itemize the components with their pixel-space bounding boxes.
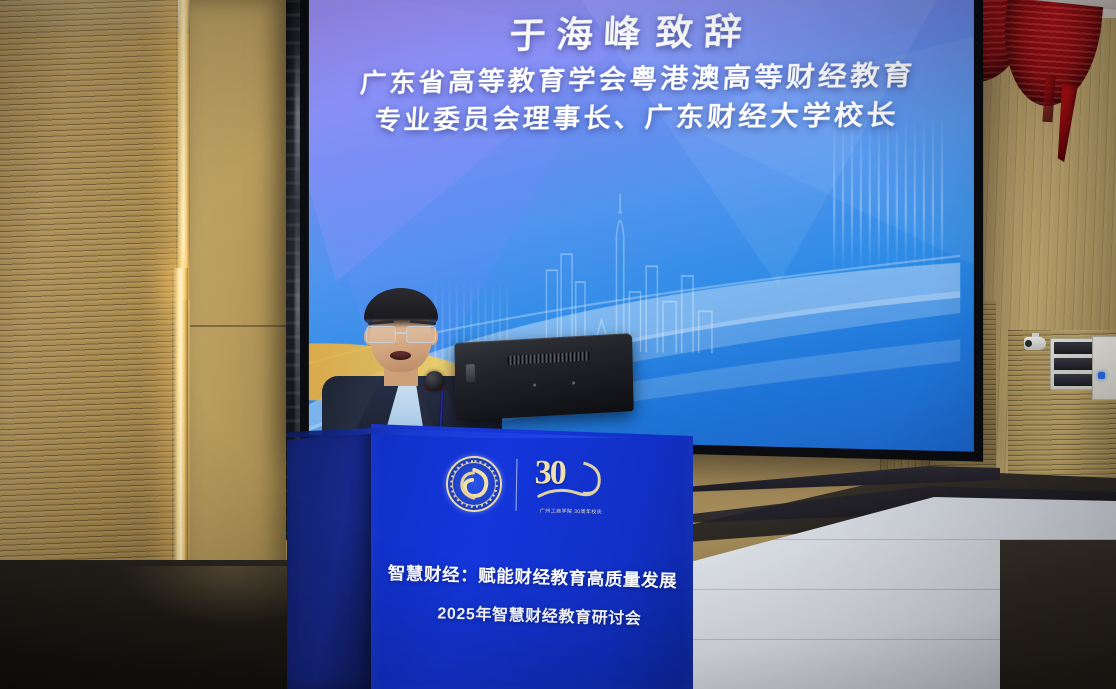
wood-column-seam [190, 325, 286, 327]
podium-event-title-block: 智慧财经：赋能财经教育高质量发展 2025年智慧财经教育研讨会 [378, 560, 686, 631]
camera-lens [1025, 340, 1032, 347]
wall-control-panel-secondary[interactable] [1092, 336, 1116, 400]
laptop-vent [508, 351, 590, 365]
conference-photo-scene: 于海峰 致辞 广东省高等教育学会粤港澳高等财经教育 专业委员会理事长、广东财经大… [0, 0, 1116, 689]
laptop-screw [573, 381, 576, 384]
slide-text-block: 于海峰 致辞 广东省高等教育学会粤港澳高等财经教育 专业委员会理事长、广东财经大… [309, 4, 974, 138]
logo-divider [515, 459, 517, 511]
wall-light-strip-upper [176, 0, 190, 300]
speaker-mouth [390, 351, 411, 360]
anniversary-caption: 广州工商学院 30周年校庆 [532, 507, 610, 515]
podium-side-panel [287, 430, 373, 689]
microphone-icon [425, 371, 444, 391]
eyeglasses-icon [366, 326, 436, 342]
anniversary-logo: 30 广州工商学院 30周年校庆 [530, 456, 609, 515]
lens-right [406, 326, 436, 343]
speaker-title-line-2: 专业委员会理事长、广东财经大学校长 [309, 97, 974, 139]
laptop-screw [533, 384, 536, 387]
right-floor-area [1000, 540, 1116, 689]
podium-logo-row: 30 广州工商学院 30周年校庆 [386, 451, 667, 518]
emblem-swirl-icon [447, 457, 500, 510]
speaker-name: 于海峰 [508, 11, 652, 60]
speech-action-label: 致辞 [654, 9, 754, 58]
speaker-title-line-1: 广东省高等教育学会粤港澳高等财经教育 [309, 57, 974, 101]
laptop-brand-badge [465, 364, 474, 383]
security-camera-icon [1024, 333, 1048, 351]
screen-bar-pattern [833, 113, 945, 273]
lens-left [366, 326, 396, 343]
laptop-device[interactable] [454, 333, 633, 421]
glasses-bridge [394, 332, 406, 334]
speaker-podium[interactable]: 30 广州工商学院 30周年校庆 智慧财经：赋能财经教育高质量发展 2025年智… [287, 418, 693, 689]
university-emblem-icon [445, 455, 502, 512]
status-indicator-led [1098, 372, 1105, 379]
